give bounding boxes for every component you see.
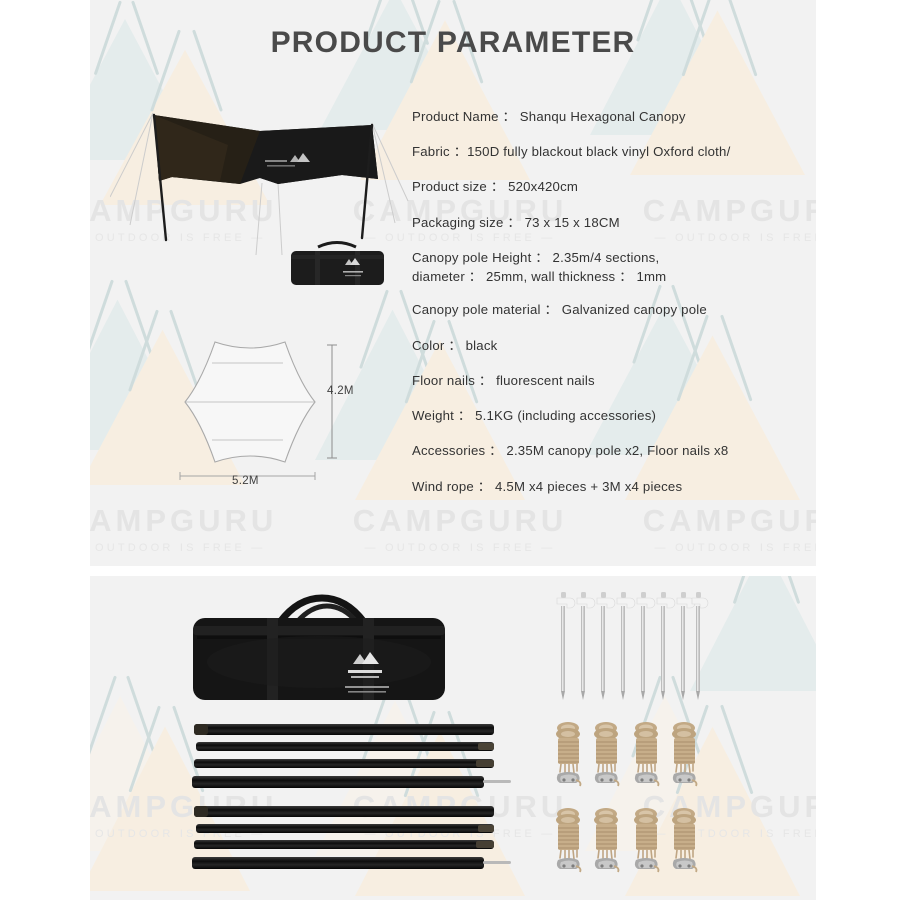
canopy-poles: [190, 716, 520, 881]
wind-ropes: [550, 718, 710, 882]
floor-nails: [550, 590, 710, 702]
spec-row-floor-nails: Floor nails ： fluorescent nails: [412, 372, 802, 391]
watermark-tagline: — OUTDOOR IS FREE —: [630, 542, 816, 554]
watermark-brand: CAMPGURU: [90, 505, 290, 536]
accessories-panel: CAMPGURU — OUTDOOR IS FREE — CAMPGURU — …: [90, 576, 816, 900]
spec-row-pole-height: Canopy pole Height ： 2.35m/4 sections, d…: [412, 249, 802, 286]
spec-row-packaging-size: Packaging size ： 73 x 15 x 18CM: [412, 214, 802, 233]
spec-row-wind-rope: Wind rope ： 4.5M x4 pieces + 3M x4 piece…: [412, 478, 802, 497]
specification-list: Product Name ： Shanqu Hexagonal Canopy F…: [412, 108, 802, 513]
teepee-shape: [90, 686, 200, 851]
carry-bag: [185, 592, 455, 710]
spec-row-accessories: Accessories ： 2.35M canopy pole x2, Floo…: [412, 442, 802, 461]
dimension-height-label: 4.2M: [327, 385, 354, 397]
footprint-diagram: [170, 330, 420, 500]
watermark-tagline: — OUTDOOR IS FREE —: [90, 542, 290, 554]
spec-pole-height-line2: diameter ： 25mm, wall thickness ： 1mm: [412, 268, 802, 287]
carry-bag-thumbnail: [285, 235, 390, 297]
spec-row-pole-material: Canopy pole material ： Galvanized canopy…: [412, 301, 802, 320]
spec-row-weight: Weight ： 5.1KG (including accessories): [412, 407, 802, 426]
watermark-tagline: — OUTDOOR IS FREE —: [340, 542, 580, 554]
product-spec-page: CAMPGURU — OUTDOOR IS FREE — CAMPGURU — …: [0, 0, 900, 900]
dimension-width-label: 5.2M: [232, 475, 259, 487]
spec-pole-height-line1: Canopy pole Height ： 2.35m/4 sections,: [412, 249, 802, 268]
watermark: CAMPGURU — OUTDOOR IS FREE —: [90, 505, 290, 554]
spec-row-product-size: Product size ： 520x420cm: [412, 178, 802, 197]
spec-row-fabric: Fabric ：150D fully blackout black vinyl …: [412, 143, 802, 162]
spec-row-product-name: Product Name ： Shanqu Hexagonal Canopy: [412, 108, 802, 127]
specification-panel: CAMPGURU — OUTDOOR IS FREE — CAMPGURU — …: [90, 0, 816, 566]
page-title: PRODUCT PARAMETER: [90, 26, 816, 60]
spec-row-color: Color ： black: [412, 337, 802, 356]
